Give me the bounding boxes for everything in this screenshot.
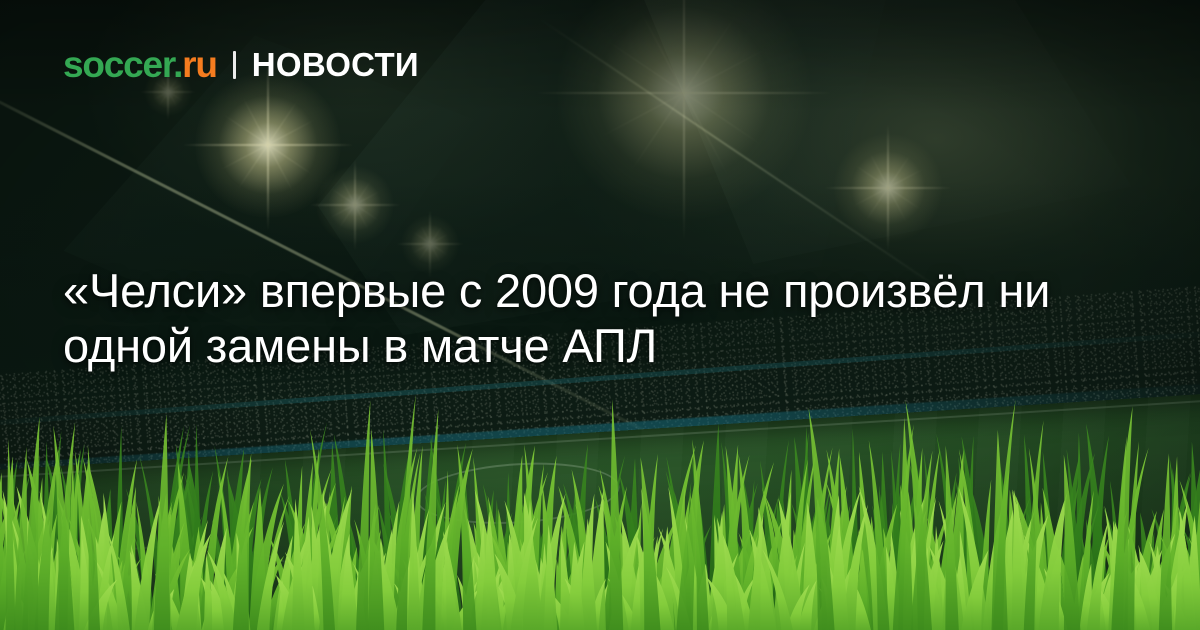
logo-dot: . [173, 44, 182, 85]
soccer-ru-logo[interactable]: soccer.ru [63, 46, 217, 83]
section-label-novosti: НОВОСТИ [252, 48, 419, 81]
headline-text: «Челси» впервые с 2009 года не произвёл … [63, 263, 1083, 373]
share-card: soccer.ru НОВОСТИ «Челси» впервые с 2009… [0, 0, 1200, 630]
logo-word-soccer: soccer [63, 44, 173, 85]
site-header: soccer.ru НОВОСТИ [63, 46, 419, 83]
header-divider [233, 51, 236, 79]
logo-word-ru: ru [182, 44, 217, 85]
